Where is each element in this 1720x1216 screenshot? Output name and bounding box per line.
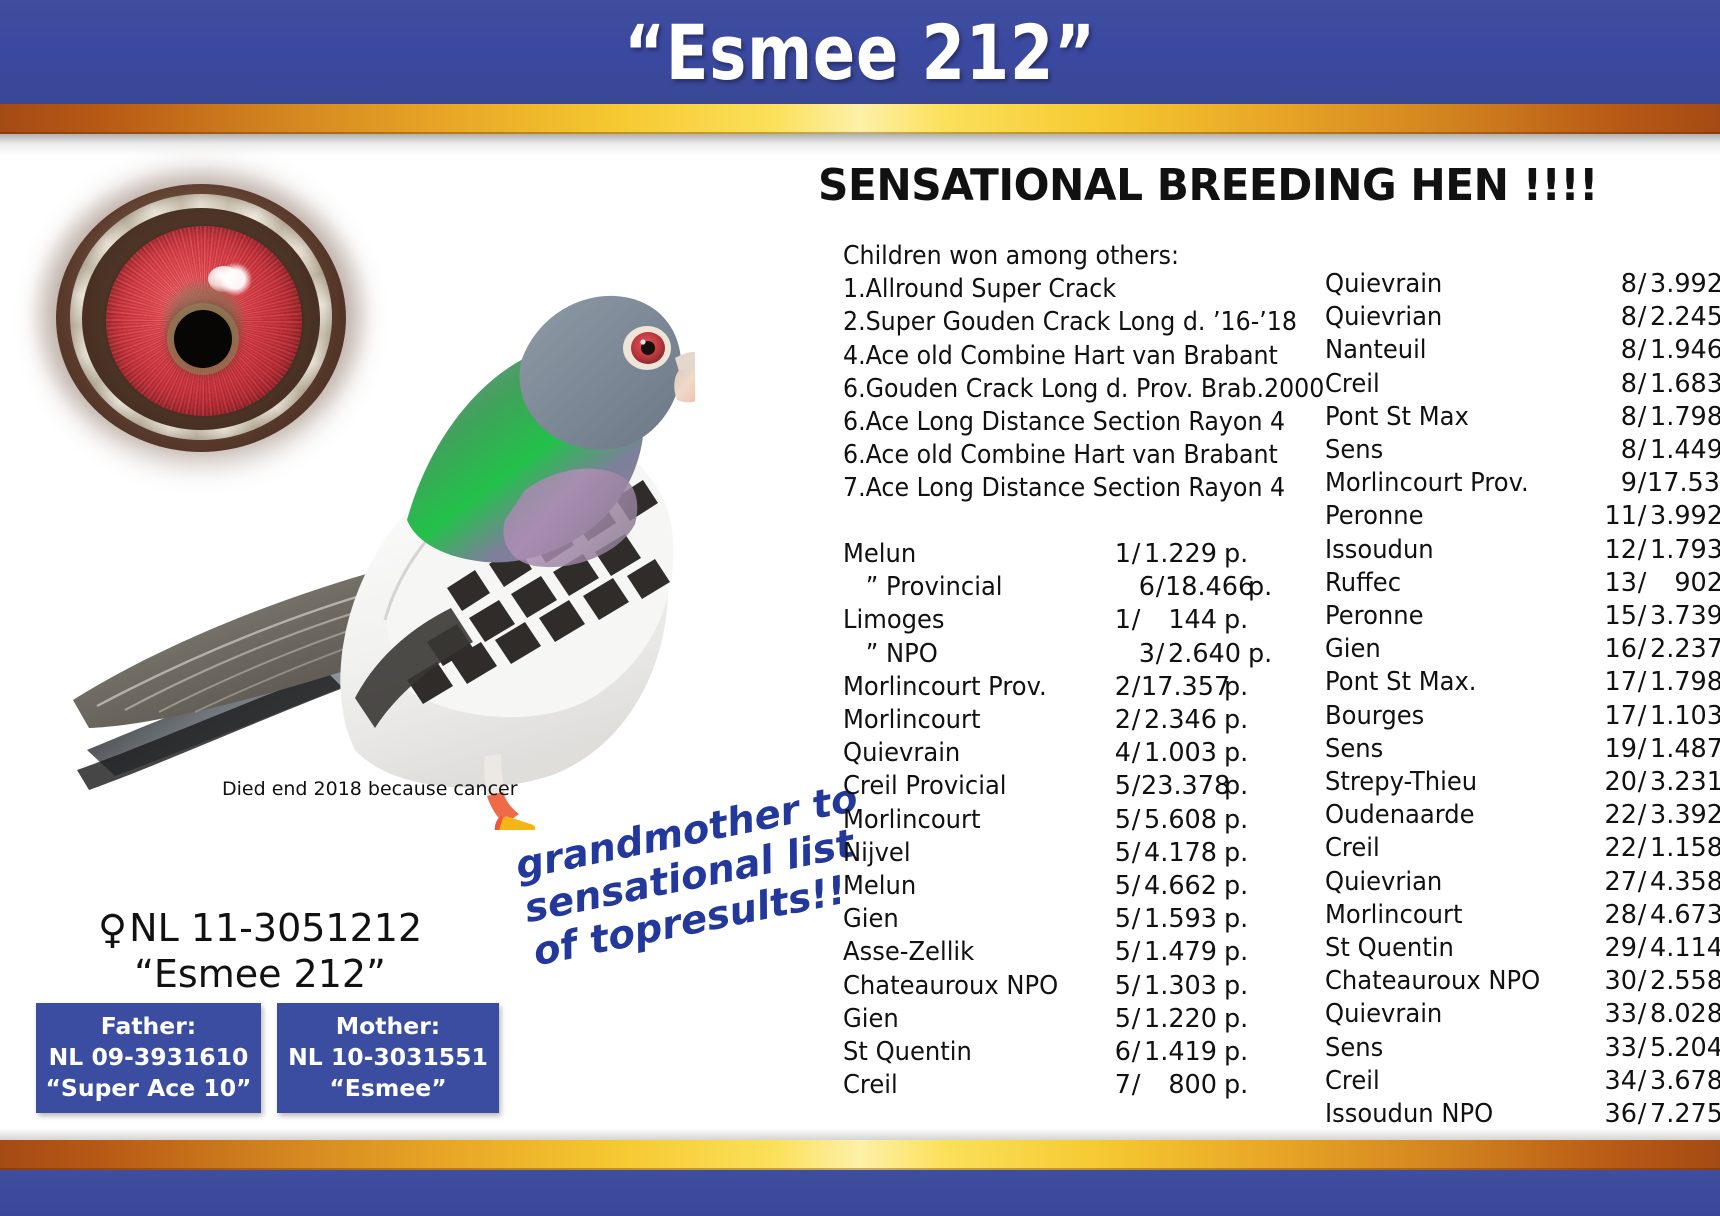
result-unit: p. — [1217, 1003, 1254, 1036]
result-position: 15 — [1597, 600, 1637, 633]
result-total-birds: 8.028 — [1647, 998, 1720, 1031]
result-total-birds: 17.357 — [1141, 671, 1217, 704]
result-unit: p. — [1217, 704, 1254, 737]
result-total-birds: 17.537 — [1647, 467, 1720, 500]
result-separator: / — [1131, 870, 1141, 903]
result-separator: / — [1131, 538, 1141, 571]
result-total-birds: 4.673 — [1647, 899, 1720, 932]
result-separator: / — [1637, 401, 1647, 434]
result-race-name: Morlincourt — [843, 804, 1079, 837]
result-row: Peronne15/3.739p. — [1325, 600, 1720, 633]
result-total-birds: 1.487 — [1647, 733, 1720, 766]
result-row: Morlincourt2/2.346p. — [843, 704, 1223, 737]
result-unit: p. — [1217, 804, 1254, 837]
result-separator: / — [1637, 600, 1647, 633]
female-symbol-icon: ♀ — [98, 907, 127, 953]
result-unit: p. — [1217, 903, 1254, 936]
result-separator: / — [1131, 903, 1141, 936]
result-total-birds: 3.231 — [1647, 766, 1720, 799]
father-label: Father: — [42, 1011, 255, 1042]
result-race-name: Sens — [1325, 434, 1583, 467]
result-row: Morlincourt5/5.608p. — [843, 804, 1223, 837]
result-total-birds: 1.798 — [1647, 666, 1720, 699]
result-unit: p. — [1217, 604, 1254, 637]
result-unit: p. — [1217, 870, 1254, 903]
result-separator: / — [1637, 1065, 1647, 1098]
result-total-birds: 4.114 — [1647, 932, 1720, 965]
result-total-birds: 4.358 — [1647, 866, 1720, 899]
result-position: 33 — [1597, 998, 1637, 1031]
result-position: 6 — [1091, 1036, 1131, 1069]
result-position: 7 — [1091, 1069, 1131, 1102]
result-separator: / — [1637, 1032, 1647, 1065]
result-row: St Quentin29/4.114p. — [1325, 932, 1720, 965]
result-position: 16 — [1597, 633, 1637, 666]
result-total-birds: 1.419 — [1141, 1036, 1217, 1069]
result-race-name: Pont St Max — [1325, 401, 1583, 434]
result-row: Morlincourt28/4.673p. — [1325, 899, 1720, 932]
result-race-name: Gien — [843, 1003, 1079, 1036]
result-row: Quievrian27/4.358p. — [1325, 866, 1720, 899]
result-position: 5 — [1091, 903, 1131, 936]
children-item: 7.Ace Long Distance Section Rayon 4 — [843, 472, 1280, 505]
result-row: ” NPO3/2.640p. — [843, 638, 1223, 671]
result-separator: / — [1637, 567, 1647, 600]
result-separator: / — [1155, 638, 1165, 671]
result-row: Creil7/800p. — [843, 1069, 1223, 1102]
result-total-birds: 2.346 — [1141, 704, 1217, 737]
result-race-name: Quievrian — [1325, 866, 1583, 899]
result-row: Morlincourt Prov.2/17.357p. — [843, 671, 1223, 704]
result-race-name: Gien — [1325, 633, 1583, 666]
result-row: Ruffec13/902p. — [1325, 567, 1720, 600]
result-position: 8 — [1597, 434, 1637, 467]
result-total-birds: 18.466 — [1165, 571, 1241, 604]
page-title: “Esmee 212” — [155, 2, 1565, 102]
result-race-name: Bourges — [1325, 700, 1583, 733]
result-race-name: Chateauroux NPO — [843, 970, 1079, 1003]
result-position: 8 — [1597, 268, 1637, 301]
result-row: Issoudun NPO36/7.275p. — [1325, 1098, 1720, 1131]
result-row: Peronne11/3.992p. — [1325, 500, 1720, 533]
result-total-birds: 23.378 — [1141, 770, 1217, 803]
result-separator: / — [1637, 733, 1647, 766]
result-row: Quievrain8/3.992p. — [1325, 268, 1720, 301]
result-unit: p. — [1241, 638, 1278, 671]
result-separator: / — [1637, 700, 1647, 733]
result-race-name: Creil — [1325, 368, 1583, 401]
result-position: 8 — [1597, 334, 1637, 367]
result-total-birds: 7.275 — [1647, 1098, 1720, 1131]
gold-divider-top — [0, 104, 1720, 134]
pigeon-name: “Esmee 212” — [0, 952, 520, 996]
result-total-birds: 1.220 — [1141, 1003, 1217, 1036]
result-race-name: St Quentin — [843, 1036, 1079, 1069]
result-unit: p. — [1217, 970, 1254, 1003]
result-position: 1 — [1091, 538, 1131, 571]
result-total-birds: 1.793 — [1647, 534, 1720, 567]
result-row: Pont St Max8/1.798p. — [1325, 401, 1720, 434]
result-race-name: Pont St Max. — [1325, 666, 1583, 699]
children-intro: Children won among others: — [843, 240, 1280, 273]
result-separator: / — [1637, 899, 1647, 932]
result-row: Sens33/5.204p. — [1325, 1032, 1720, 1065]
result-total-birds: 3.992 — [1647, 268, 1720, 301]
result-separator: / — [1131, 970, 1141, 1003]
result-position: 17 — [1597, 700, 1637, 733]
result-separator: / — [1637, 500, 1647, 533]
children-item: 4.Ace old Combine Hart van Brabant — [843, 340, 1280, 373]
result-race-name: Creil — [843, 1069, 1079, 1102]
result-race-name: Issoudun NPO — [1325, 1098, 1583, 1131]
result-total-birds: 902 — [1647, 567, 1720, 600]
result-total-birds: 1.479 — [1141, 936, 1217, 969]
result-position: 8 — [1597, 368, 1637, 401]
ring-number-text: NL 11-3051212 — [129, 906, 422, 950]
result-separator: / — [1637, 1098, 1647, 1131]
result-race-name: ” Provincial — [843, 571, 1101, 604]
result-race-name: Melun — [843, 538, 1079, 571]
result-race-name: Quievrain — [843, 737, 1079, 770]
result-row: Bourges17/1.103p. — [1325, 700, 1720, 733]
result-unit: p. — [1217, 837, 1254, 870]
result-total-birds: 1.229 — [1141, 538, 1217, 571]
results-column-left: Melun1/1.229p.” Provincial6/18.466p.Limo… — [843, 538, 1223, 1102]
result-race-name: ” NPO — [843, 638, 1101, 671]
result-race-name: Gien — [843, 903, 1079, 936]
children-item: 1.Allround Super Crack — [843, 273, 1280, 306]
result-race-name: Asse-Zellik — [843, 936, 1079, 969]
result-row: Creil34/3.678p. — [1325, 1065, 1720, 1098]
result-position: 1 — [1091, 604, 1131, 637]
result-total-birds: 2.640 — [1165, 638, 1241, 671]
result-separator: / — [1637, 633, 1647, 666]
pigeon-ring-number: ♀NL 11-3051212 — [0, 906, 520, 953]
result-position: 6 — [1115, 571, 1155, 604]
result-total-birds: 1.303 — [1141, 970, 1217, 1003]
children-item: 2.Super Gouden Crack Long d. ’16-’18 — [843, 306, 1280, 339]
result-separator: / — [1131, 1003, 1141, 1036]
mother-ring: NL 10-3031551 — [283, 1042, 493, 1073]
result-unit: p. — [1217, 671, 1254, 704]
result-race-name: Chateauroux NPO — [1325, 965, 1583, 998]
result-total-birds: 800 — [1141, 1069, 1217, 1102]
result-race-name: Morlincourt — [843, 704, 1079, 737]
father-name: “Super Ace 10” — [42, 1073, 255, 1104]
result-row: Strepy-Thieu20/3.231p. — [1325, 766, 1720, 799]
result-position: 2 — [1091, 704, 1131, 737]
children-list: 1.Allround Super Crack2.Super Gouden Cra… — [843, 273, 1313, 505]
result-total-birds: 1.003 — [1141, 737, 1217, 770]
result-race-name: Morlincourt Prov. — [1325, 467, 1583, 500]
result-total-birds: 4.178 — [1141, 837, 1217, 870]
result-total-birds: 144 — [1141, 604, 1217, 637]
result-total-birds: 1.103 — [1647, 700, 1720, 733]
pigeon-beak — [674, 370, 695, 403]
result-separator: / — [1637, 368, 1647, 401]
result-unit: p. — [1217, 737, 1254, 770]
result-separator: / — [1131, 737, 1141, 770]
result-race-name: Quievrain — [1325, 998, 1583, 1031]
mother-name: “Esmee” — [283, 1073, 493, 1104]
result-row: Nijvel5/4.178p. — [843, 837, 1223, 870]
result-race-name: Ruffec — [1325, 567, 1583, 600]
result-unit: p. — [1217, 770, 1254, 803]
result-race-name: Melun — [843, 870, 1079, 903]
result-race-name: Quievrain — [1325, 268, 1583, 301]
result-separator: / — [1131, 1069, 1141, 1102]
result-race-name: Sens — [1325, 1032, 1583, 1065]
result-race-name: Creil — [1325, 832, 1583, 865]
pedigree-poster: “Esmee 212” — [0, 0, 1720, 1216]
result-unit: p. — [1217, 1036, 1254, 1069]
result-race-name: Quievrian — [1325, 301, 1583, 334]
result-race-name: Sens — [1325, 733, 1583, 766]
result-position: 8 — [1597, 401, 1637, 434]
result-separator: / — [1637, 268, 1647, 301]
gold-divider-bottom — [0, 1140, 1720, 1170]
result-position: 30 — [1597, 965, 1637, 998]
result-total-birds: 2.558 — [1647, 965, 1720, 998]
children-achievements: Children won among others: 1.Allround Su… — [843, 240, 1313, 506]
result-row: Morlincourt Prov.9/17.537p. — [1325, 467, 1720, 500]
pigeon-head — [520, 296, 682, 450]
result-row: Creil Provicial5/23.378p. — [843, 770, 1223, 803]
result-unit: p. — [1217, 538, 1254, 571]
result-position: 2 — [1091, 671, 1131, 704]
children-item: 6.Gouden Crack Long d. Prov. Brab.2000 — [843, 373, 1280, 406]
result-total-birds: 5.204 — [1647, 1032, 1720, 1065]
result-position: 8 — [1597, 301, 1637, 334]
result-separator: / — [1131, 604, 1141, 637]
result-position: 13 — [1597, 567, 1637, 600]
result-unit: p. — [1217, 936, 1254, 969]
result-position: 4 — [1091, 737, 1131, 770]
result-position: 5 — [1091, 870, 1131, 903]
result-position: 22 — [1597, 799, 1637, 832]
result-position: 5 — [1091, 804, 1131, 837]
result-position: 5 — [1091, 936, 1131, 969]
result-separator: / — [1637, 998, 1647, 1031]
result-row: St Quentin6/1.419p. — [843, 1036, 1223, 1069]
result-row: Nanteuil8/1.946p. — [1325, 334, 1720, 367]
result-race-name: Strepy-Thieu — [1325, 766, 1583, 799]
result-separator: / — [1131, 837, 1141, 870]
result-separator: / — [1637, 965, 1647, 998]
result-total-birds: 1.449 — [1647, 434, 1720, 467]
result-total-birds: 3.678 — [1647, 1065, 1720, 1098]
result-position: 33 — [1597, 1032, 1637, 1065]
headline: SENSATIONAL BREEDING HEN !!!! — [818, 160, 1598, 211]
result-row: Gien5/1.593p. — [843, 903, 1223, 936]
result-separator: / — [1131, 1036, 1141, 1069]
mother-label: Mother: — [283, 1011, 493, 1042]
result-unit: p. — [1241, 571, 1278, 604]
result-position: 34 — [1597, 1065, 1637, 1098]
result-unit: p. — [1217, 1069, 1254, 1102]
result-position: 19 — [1597, 733, 1637, 766]
result-row: Gien16/2.237p. — [1325, 633, 1720, 666]
mother-box: Mother: NL 10-3031551 “Esmee” — [277, 1003, 499, 1113]
result-separator: / — [1637, 334, 1647, 367]
result-position: 5 — [1091, 837, 1131, 870]
result-separator: / — [1131, 770, 1141, 803]
result-row: Chateauroux NPO5/1.303p. — [843, 970, 1223, 1003]
result-race-name: Issoudun — [1325, 534, 1583, 567]
result-separator: / — [1131, 804, 1141, 837]
result-position: 17 — [1597, 666, 1637, 699]
result-position: 20 — [1597, 766, 1637, 799]
result-position: 28 — [1597, 899, 1637, 932]
result-separator: / — [1637, 932, 1647, 965]
result-position: 3 — [1115, 638, 1155, 671]
result-race-name: Peronne — [1325, 500, 1583, 533]
result-row: Issoudun12/1.793p. — [1325, 534, 1720, 567]
father-ring: NL 09-3931610 — [42, 1042, 255, 1073]
result-row: Limoges1/144p. — [843, 604, 1223, 637]
result-separator: / — [1637, 832, 1647, 865]
result-separator: / — [1637, 766, 1647, 799]
result-position: 27 — [1597, 866, 1637, 899]
result-row: Pont St Max.17/1.798p. — [1325, 666, 1720, 699]
result-row: Gien5/1.220p. — [843, 1003, 1223, 1036]
death-note: Died end 2018 because cancer — [222, 778, 518, 800]
result-separator: / — [1131, 704, 1141, 737]
result-row: Sens8/1.449p. — [1325, 434, 1720, 467]
result-total-birds: 3.992 — [1647, 500, 1720, 533]
result-total-birds: 5.608 — [1141, 804, 1217, 837]
result-race-name: Limoges — [843, 604, 1079, 637]
result-position: 5 — [1091, 970, 1131, 1003]
children-item: 6.Ace Long Distance Section Rayon 4 — [843, 406, 1280, 439]
result-race-name: Nanteuil — [1325, 334, 1583, 367]
result-separator: / — [1637, 534, 1647, 567]
result-race-name: Morlincourt Prov. — [843, 671, 1079, 704]
father-box: Father: NL 09-3931610 “Super Ace 10” — [36, 1003, 261, 1113]
result-total-birds: 2.237 — [1647, 633, 1720, 666]
result-position: 29 — [1597, 932, 1637, 965]
result-separator: / — [1637, 666, 1647, 699]
result-position: 11 — [1597, 500, 1637, 533]
result-row: Sens19/1.487p. — [1325, 733, 1720, 766]
result-race-name: Creil Provicial — [843, 770, 1079, 803]
result-row: Quievrian8/2.245p. — [1325, 301, 1720, 334]
result-position: 36 — [1597, 1098, 1637, 1131]
results-column-right: Quievrain8/3.992p.Quievrian8/2.245p.Nant… — [1325, 268, 1720, 1131]
result-race-name: Morlincourt — [1325, 899, 1583, 932]
result-separator: / — [1637, 866, 1647, 899]
result-position: 5 — [1091, 770, 1131, 803]
result-row: Chateauroux NPO30/2.558p. — [1325, 965, 1720, 998]
result-race-name: Oudenaarde — [1325, 799, 1583, 832]
result-separator: / — [1131, 936, 1141, 969]
result-position: 5 — [1091, 1003, 1131, 1036]
result-row: ” Provincial6/18.466p. — [843, 571, 1223, 604]
result-total-birds: 3.392 — [1647, 799, 1720, 832]
result-race-name: Peronne — [1325, 600, 1583, 633]
result-total-birds: 1.798 — [1647, 401, 1720, 434]
result-race-name: Nijvel — [843, 837, 1079, 870]
result-separator: / — [1637, 301, 1647, 334]
result-separator: / — [1131, 671, 1141, 704]
footer-banner — [0, 1170, 1720, 1216]
result-row: Melun1/1.229p. — [843, 538, 1223, 571]
result-separator: / — [1637, 467, 1647, 500]
result-row: Melun5/4.662p. — [843, 870, 1223, 903]
result-total-birds: 4.662 — [1141, 870, 1217, 903]
result-position: 22 — [1597, 832, 1637, 865]
result-position: 9 — [1597, 467, 1637, 500]
children-item: 6.Ace old Combine Hart van Brabant — [843, 439, 1280, 472]
result-row: Creil22/1.158p. — [1325, 832, 1720, 865]
result-total-birds: 1.593 — [1141, 903, 1217, 936]
result-separator: / — [1637, 434, 1647, 467]
result-row: Quievrain4/1.003p. — [843, 737, 1223, 770]
result-position: 12 — [1597, 534, 1637, 567]
header-shadow — [0, 134, 1720, 156]
result-row: Asse-Zellik5/1.479p. — [843, 936, 1223, 969]
result-row: Oudenaarde22/3.392p. — [1325, 799, 1720, 832]
pigeon-photo: 212 — [55, 190, 695, 830]
result-total-birds: 2.245 — [1647, 301, 1720, 334]
result-race-name: St Quentin — [1325, 932, 1583, 965]
result-total-birds: 1.946 — [1647, 334, 1720, 367]
result-row: Quievrain33/8.028p. — [1325, 998, 1720, 1031]
result-total-birds: 3.739 — [1647, 600, 1720, 633]
result-total-birds: 1.158 — [1647, 832, 1720, 865]
result-row: Creil8/1.683p. — [1325, 368, 1720, 401]
result-race-name: Creil — [1325, 1065, 1583, 1098]
result-total-birds: 1.683 — [1647, 368, 1720, 401]
result-separator: / — [1155, 571, 1165, 604]
result-separator: / — [1637, 799, 1647, 832]
